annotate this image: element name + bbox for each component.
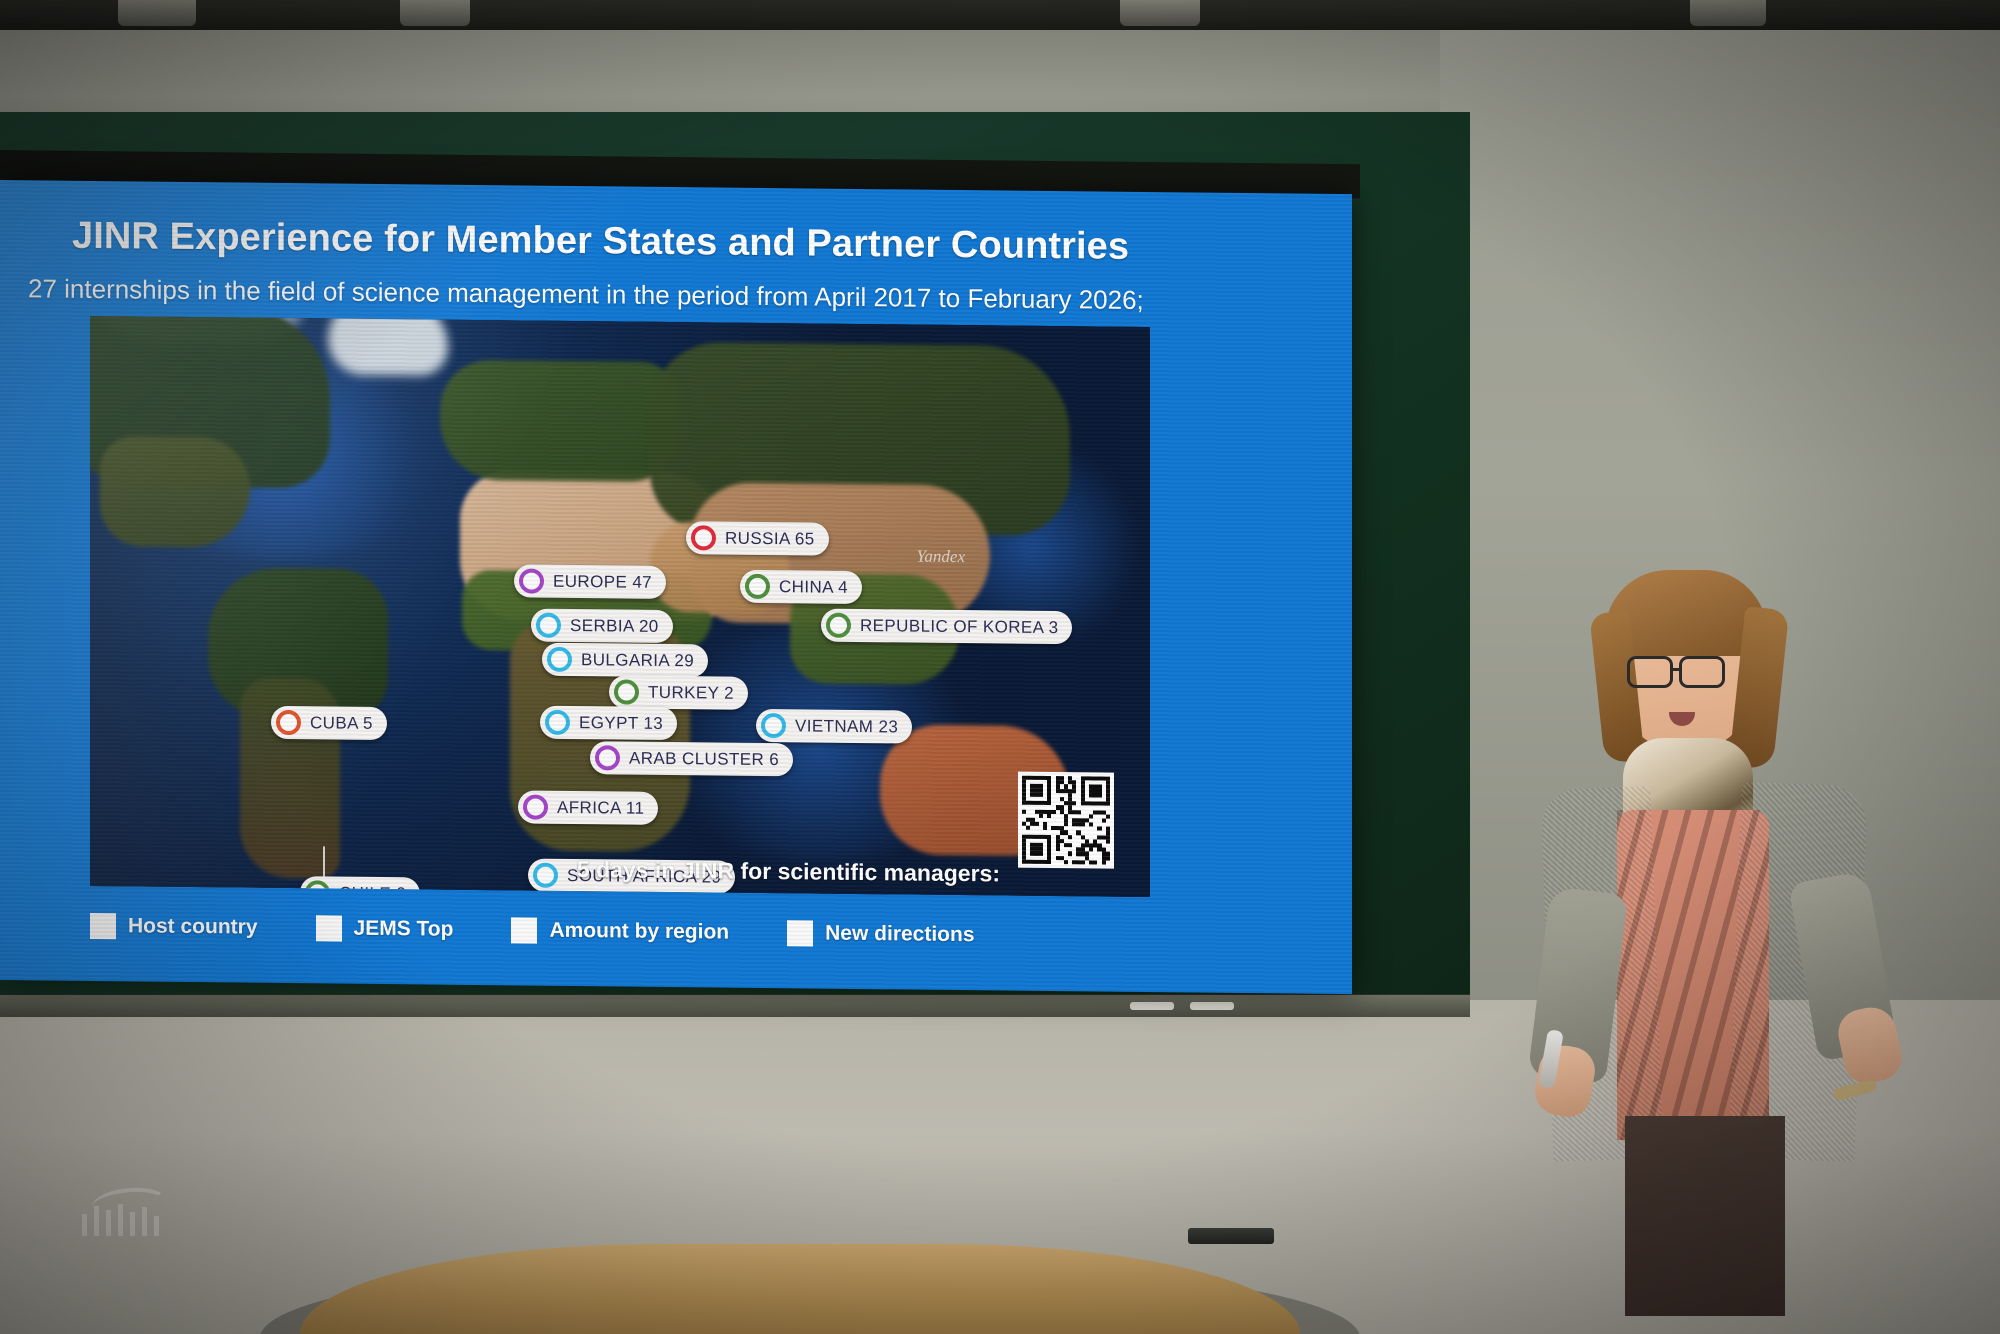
map-watermark: Yandex xyxy=(917,547,966,568)
ceiling-light xyxy=(400,0,470,26)
legend-label: Host country xyxy=(128,914,258,939)
pin-ring-icon xyxy=(761,713,786,738)
map-pin-label: RUSSIA 65 xyxy=(725,528,815,549)
legend-ring-icon xyxy=(511,917,537,943)
map-pin-label: ARAB CLUSTER 6 xyxy=(629,748,779,770)
map-pin-europe[interactable]: EUROPE 47 xyxy=(514,564,666,599)
europe-landmass xyxy=(440,360,680,483)
pin-ring-icon xyxy=(305,880,330,897)
trousers xyxy=(1625,1116,1785,1316)
pin-ring-icon xyxy=(533,863,558,888)
map-caption: 5 days in JINR for scientific managers: xyxy=(577,856,1000,887)
pin-ring-icon xyxy=(547,647,572,672)
map-pin-label: BULGARIA 29 xyxy=(581,650,694,671)
map-pin-serbia[interactable]: SERBIA 20 xyxy=(531,609,673,643)
presenter-speaking xyxy=(1545,560,1975,1160)
pin-ring-icon xyxy=(523,794,548,819)
legend-label: Amount by region xyxy=(549,919,729,945)
ceiling-light xyxy=(1690,0,1766,26)
lecture-room-photo: JINR Experience for Member States and Pa… xyxy=(0,0,2000,1334)
map-pin-label: CHILE 2 xyxy=(339,883,406,897)
legend-item-green: New directions xyxy=(787,920,974,948)
map-pin-cuba[interactable]: CUBA 5 xyxy=(271,706,387,740)
qr-code[interactable] xyxy=(1018,772,1114,869)
map-pin-republic-of-korea[interactable]: REPUBLIC OF KOREA 3 xyxy=(821,609,1072,645)
pin-ring-icon xyxy=(826,613,851,638)
slide-title: JINR Experience for Member States and Pa… xyxy=(72,215,1326,271)
pin-ring-icon xyxy=(519,568,544,593)
glasses-bridge xyxy=(1673,668,1681,671)
legend-ring-icon xyxy=(316,915,342,941)
map-pin-label: AFRICA 11 xyxy=(557,797,644,818)
map-pin-label: EUROPE 47 xyxy=(553,571,652,592)
ceiling-light xyxy=(1120,0,1200,26)
legend-item-purple: Amount by region xyxy=(511,917,729,945)
glasses-left-lens xyxy=(1627,656,1673,688)
pin-leader-line-chile xyxy=(323,846,325,878)
glasses-right-lens xyxy=(1679,656,1725,688)
map-pin-label: EGYPT 13 xyxy=(579,713,663,734)
map-pin-arab-cluster[interactable]: ARAB CLUSTER 6 xyxy=(590,741,793,776)
map-pin-label: TURKEY 2 xyxy=(648,682,734,703)
greenland-landmass xyxy=(328,316,448,376)
map-pin-russia[interactable]: RUSSIA 65 xyxy=(686,521,829,555)
map-pin-bulgaria[interactable]: BULGARIA 29 xyxy=(542,643,708,678)
map-legend: Host countryJEMS TopAmount by regionNew … xyxy=(90,901,1150,962)
podium-device[interactable] xyxy=(1188,1228,1274,1244)
ceiling-light xyxy=(118,0,196,26)
pin-ring-icon xyxy=(614,679,639,704)
map-pin-china[interactable]: CHINA 4 xyxy=(740,570,862,604)
legend-item-red: Host country xyxy=(90,913,258,941)
chalk-piece xyxy=(1130,1002,1174,1010)
map-pin-chile[interactable]: CHILE 2 xyxy=(300,876,420,897)
legend-label: JEMS Top xyxy=(354,917,454,942)
pin-ring-icon xyxy=(536,613,561,638)
legend-ring-icon xyxy=(787,920,813,946)
chalk-piece xyxy=(1190,1002,1234,1010)
pin-ring-icon xyxy=(545,710,570,735)
legend-label: New directions xyxy=(825,922,974,948)
central-america-landmass xyxy=(100,436,250,548)
legend-item-cyan: JEMS Top xyxy=(316,915,454,942)
map-pin-label: VIETNAM 23 xyxy=(795,716,898,737)
legend-ring-icon xyxy=(90,913,116,939)
map-pin-label: REPUBLIC OF KOREA 3 xyxy=(860,616,1058,638)
projection-screen-slide: JINR Experience for Member States and Pa… xyxy=(0,180,1352,994)
pin-ring-icon xyxy=(745,574,770,599)
map-pin-label: CUBA 5 xyxy=(310,713,373,734)
map-pin-label: CHINA 4 xyxy=(779,577,848,598)
ceiling xyxy=(0,0,2000,30)
pin-ring-icon xyxy=(691,525,716,550)
map-pin-turkey[interactable]: TURKEY 2 xyxy=(609,675,748,709)
venue-logo xyxy=(64,1186,174,1236)
map-pin-label: SERBIA 20 xyxy=(570,615,659,636)
pin-ring-icon xyxy=(595,745,620,770)
map-pin-vietnam[interactable]: VIETNAM 23 xyxy=(756,709,912,744)
map-pin-africa[interactable]: AFRICA 11 xyxy=(518,790,658,824)
pin-ring-icon xyxy=(276,710,301,735)
map-pin-egypt[interactable]: EGYPT 13 xyxy=(540,706,677,740)
world-map: Yandex RUSSIA 65EUROPE 47SERBIA 20BULGAR… xyxy=(90,316,1150,897)
chalk-rail xyxy=(0,995,1470,1017)
slide-subtitle: 27 internships in the field of science m… xyxy=(28,273,1326,318)
